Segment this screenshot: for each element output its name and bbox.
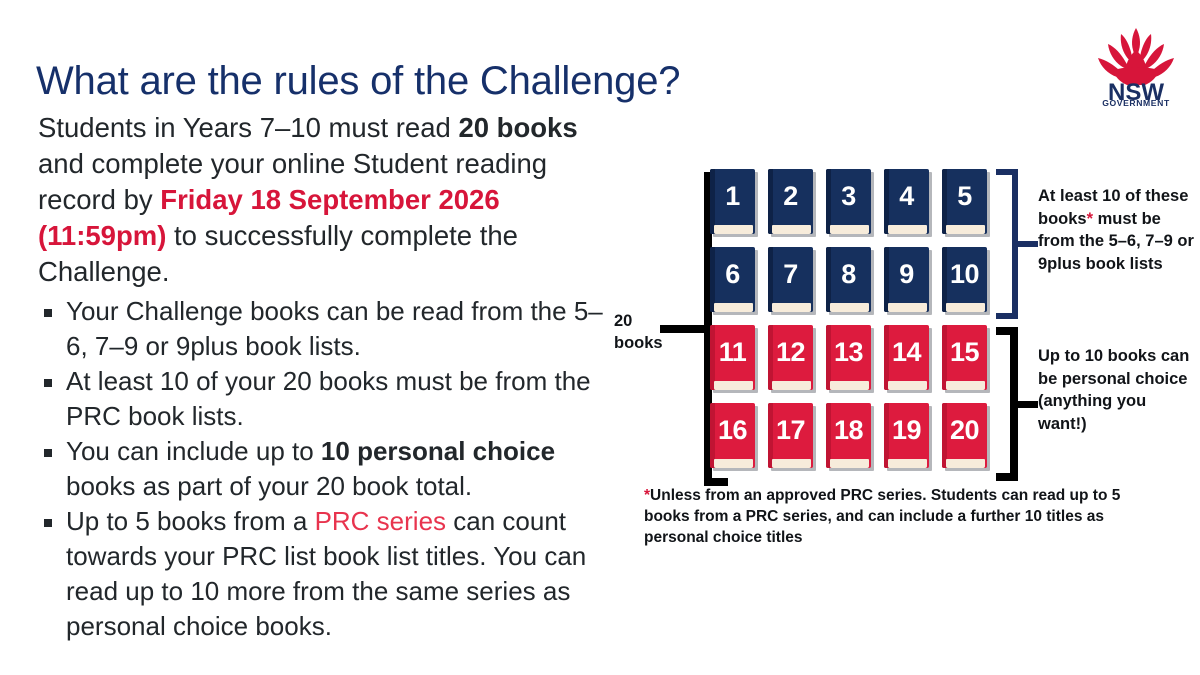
bracket-bottom-bottom-arm [996,473,1018,481]
book-number: 16 [710,404,755,456]
intro-paragraph: Students in Years 7–10 must read 20 book… [38,110,618,290]
book-20[interactable]: 20 [942,403,990,471]
logo-government-text: GOVERNMENT [1102,98,1170,106]
bracket-bottom-top-arm [996,327,1018,335]
book-10[interactable]: 10 [942,247,990,315]
bracket-top-top-arm [996,169,1018,175]
book-pages [946,459,985,468]
book-number: 20 [942,404,987,456]
book-number: 10 [942,248,987,300]
note-personal-choice-books: Up to 10 books can be personal choice (a… [1038,345,1198,435]
bracket-top-bottom-arm [996,313,1018,319]
book-number: 2 [768,170,813,222]
book-pages [772,459,811,468]
rule-4-prc-series: PRC series [315,506,446,536]
rules-text-column: Students in Years 7–10 must read 20 book… [38,110,618,644]
book-grid: 1 2 3 [710,169,1000,481]
intro-bold-20-books: 20 books [458,112,577,143]
book-7[interactable]: 7 [768,247,816,315]
book-pages [772,303,811,312]
rule-4-pre: Up to 5 books from a [66,506,315,536]
book-number: 17 [768,404,813,456]
list-item-rule-3: You can include up to 10 personal choice… [38,434,618,504]
rule-2-text: At least 10 of your 20 books must be fro… [66,366,591,431]
book-2[interactable]: 2 [768,169,816,237]
book-pages [888,225,927,234]
book-6[interactable]: 6 [710,247,758,315]
rules-list: Your Challenge books can be read from th… [38,294,618,644]
book-pages [946,303,985,312]
book-number: 4 [884,170,929,222]
book-number: 14 [884,326,929,378]
book-pages [888,303,927,312]
list-item-rule-4: Up to 5 books from a PRC series can coun… [38,504,618,644]
bracket-bottom-tick [1016,401,1038,408]
book-14[interactable]: 14 [884,325,932,393]
rule-3-post: books as part of your 20 book total. [66,471,472,501]
book-13[interactable]: 13 [826,325,874,393]
book-number: 9 [884,248,929,300]
book-pages [772,381,811,390]
book-number: 8 [826,248,871,300]
rule-3-pre: You can include up to [66,436,321,466]
book-pages [714,225,753,234]
book-number: 6 [710,248,755,300]
book-pages [714,303,753,312]
book-8[interactable]: 8 [826,247,874,315]
bracket-prc-list-books [1006,169,1032,319]
book-pages [714,381,753,390]
book-pages [772,225,811,234]
book-pages [946,381,985,390]
book-pages [888,381,927,390]
book-pages [714,459,753,468]
nsw-government-logo: NSW GOVERNMENT [1088,22,1184,106]
note-prc-list-books: At least 10 of these books* must be from… [1038,185,1198,275]
bracket-personal-choice-books [1006,327,1032,481]
page-title: What are the rules of the Challenge? [36,57,1056,105]
book-19[interactable]: 19 [884,403,932,471]
book-row-1: 1 2 3 [710,169,1000,247]
waratah-flower-icon [1098,28,1174,85]
books-diagram: 20 books 1 [600,155,1200,575]
book-pages [830,381,869,390]
book-18[interactable]: 18 [826,403,874,471]
intro-part1: Students in Years 7–10 must read [38,112,458,143]
book-9[interactable]: 9 [884,247,932,315]
rule-3-bold: 10 personal choice [321,436,555,466]
list-item-rule-2: At least 10 of your 20 books must be fro… [38,364,618,434]
book-5[interactable]: 5 [942,169,990,237]
book-number: 13 [826,326,871,378]
book-number: 7 [768,248,813,300]
bracket-top-tick [1016,241,1038,247]
book-number: 3 [826,170,871,222]
book-1[interactable]: 1 [710,169,758,237]
slide-root: NSW GOVERNMENT What are the rules of the… [0,0,1200,675]
book-3[interactable]: 3 [826,169,874,237]
rule-1-text: Your Challenge books can be read from th… [66,296,603,361]
book-number: 11 [710,326,755,378]
book-pages [830,459,869,468]
book-15[interactable]: 15 [942,325,990,393]
book-pages [946,225,985,234]
book-number: 19 [884,404,929,456]
book-number: 15 [942,326,987,378]
book-row-3: 11 12 13 [710,325,1000,403]
book-row-2: 6 7 8 [710,247,1000,325]
book-11[interactable]: 11 [710,325,758,393]
book-12[interactable]: 12 [768,325,816,393]
bracket-left-tick [660,325,706,333]
book-number: 5 [942,170,987,222]
book-17[interactable]: 17 [768,403,816,471]
book-row-4: 16 17 18 [710,403,1000,481]
diagram-footnote: *Unless from an approved PRC series. Stu… [644,485,1154,548]
list-item-rule-1: Your Challenge books can be read from th… [38,294,618,364]
footnote-text: Unless from an approved PRC series. Stud… [644,487,1120,546]
book-number: 18 [826,404,871,456]
book-pages [830,303,869,312]
book-16[interactable]: 16 [710,403,758,471]
book-number: 1 [710,170,755,222]
book-4[interactable]: 4 [884,169,932,237]
book-number: 12 [768,326,813,378]
book-pages [830,225,869,234]
book-pages [888,459,927,468]
